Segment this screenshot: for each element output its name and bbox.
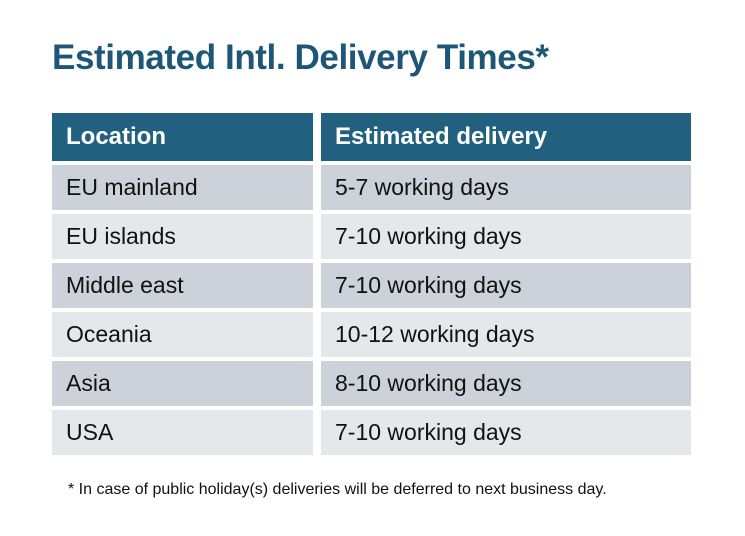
table-row: Asia 8-10 working days: [52, 361, 691, 406]
table-row: USA 7-10 working days: [52, 410, 691, 455]
table-row: EU islands 7-10 working days: [52, 214, 691, 259]
cell-location: Middle east: [52, 263, 313, 308]
column-gutter: [313, 113, 321, 161]
footnote: * In case of public holiday(s) deliverie…: [68, 479, 607, 501]
cell-delivery: 5-7 working days: [321, 165, 691, 210]
table-row: EU mainland 5-7 working days: [52, 165, 691, 210]
column-gutter: [313, 263, 321, 308]
table-row: Middle east 7-10 working days: [52, 263, 691, 308]
column-header-estimated-delivery: Estimated delivery: [321, 113, 691, 161]
cell-delivery: 7-10 working days: [321, 410, 691, 455]
cell-delivery: 7-10 working days: [321, 214, 691, 259]
cell-location: EU mainland: [52, 165, 313, 210]
column-gutter: [313, 312, 321, 357]
delivery-times-card: Estimated Intl. Delivery Times* Location…: [0, 0, 745, 536]
column-gutter: [313, 165, 321, 210]
cell-location: Asia: [52, 361, 313, 406]
column-header-location: Location: [52, 113, 313, 161]
cell-delivery: 8-10 working days: [321, 361, 691, 406]
table-header-row: Location Estimated delivery: [52, 113, 691, 161]
cell-location: Oceania: [52, 312, 313, 357]
cell-location: EU islands: [52, 214, 313, 259]
column-gutter: [313, 214, 321, 259]
column-gutter: [313, 410, 321, 455]
cell-delivery: 10-12 working days: [321, 312, 691, 357]
cell-location: USA: [52, 410, 313, 455]
delivery-times-table: Location Estimated delivery EU mainland …: [52, 113, 691, 455]
column-gutter: [313, 361, 321, 406]
cell-delivery: 7-10 working days: [321, 263, 691, 308]
page-title: Estimated Intl. Delivery Times*: [52, 36, 549, 80]
table-row: Oceania 10-12 working days: [52, 312, 691, 357]
